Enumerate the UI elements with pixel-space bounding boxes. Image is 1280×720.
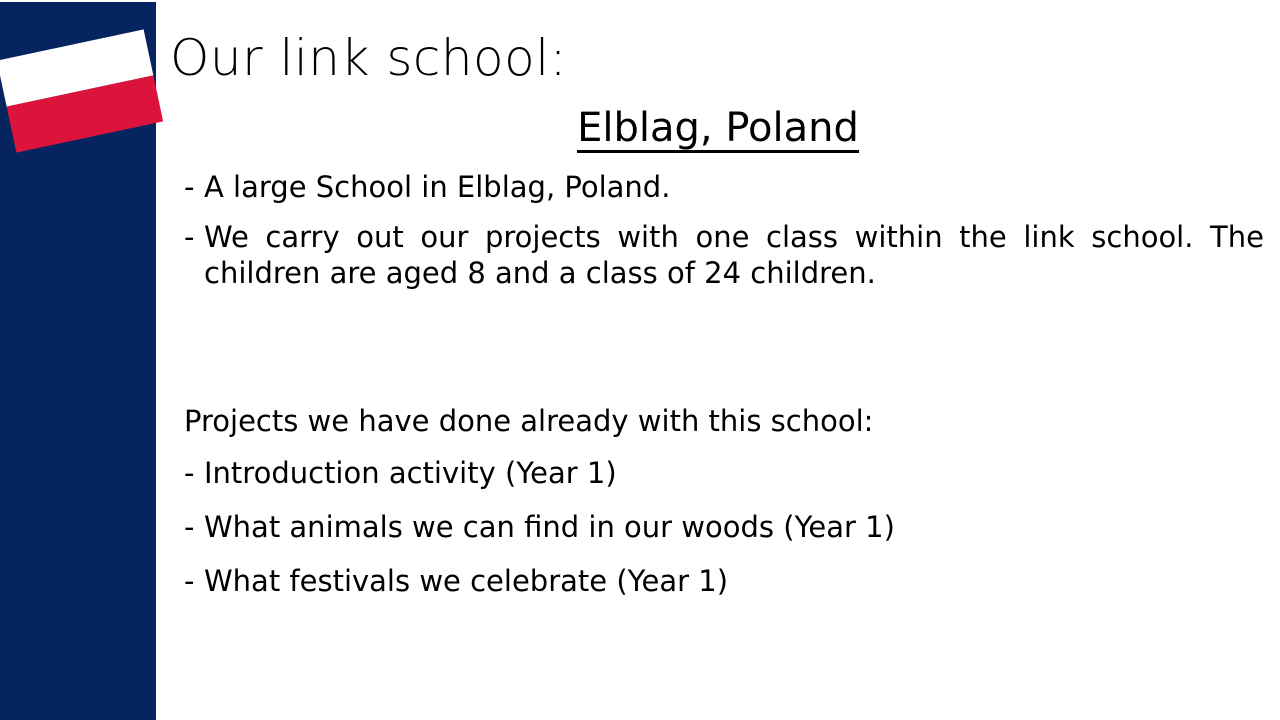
list-item: - A large School in Elblag, Poland. bbox=[184, 170, 1264, 206]
intro-bullet-list: - A large School in Elblag, Poland. - We… bbox=[184, 170, 1264, 292]
projects-heading: Projects we have done already with this … bbox=[184, 404, 1264, 440]
bullet-dash-icon: - bbox=[184, 564, 204, 600]
list-item: - We carry out our projects with one cla… bbox=[184, 220, 1264, 292]
list-item: - What animals we can find in our woods … bbox=[184, 510, 1264, 546]
bullet-dash-icon: - bbox=[184, 170, 204, 206]
list-item-text: Introduction activity (Year 1) bbox=[204, 456, 1264, 492]
bullet-dash-icon: - bbox=[184, 510, 204, 546]
list-item-text: What animals we can find in our woods (Y… bbox=[204, 510, 1264, 546]
slide-subtitle: Elblag, Poland bbox=[156, 108, 1280, 153]
list-item-text: What festivals we celebrate (Year 1) bbox=[204, 564, 1264, 600]
list-item-text: We carry out our projects with one class… bbox=[204, 220, 1264, 292]
slide-title: Our link school: bbox=[170, 33, 567, 83]
slide-content: Our link school: Elblag, Poland - A larg… bbox=[156, 0, 1280, 720]
presentation-slide: Our link school: Elblag, Poland - A larg… bbox=[0, 0, 1280, 720]
list-item: - Introduction activity (Year 1) bbox=[184, 456, 1264, 492]
bullet-dash-icon: - bbox=[184, 456, 204, 492]
bullet-dash-icon: - bbox=[184, 220, 204, 256]
list-item-text: A large School in Elblag, Poland. bbox=[204, 170, 1264, 206]
projects-section: Projects we have done already with this … bbox=[184, 404, 1264, 600]
slide-subtitle-text: Elblag, Poland bbox=[577, 108, 859, 153]
list-item: - What festivals we celebrate (Year 1) bbox=[184, 564, 1264, 600]
